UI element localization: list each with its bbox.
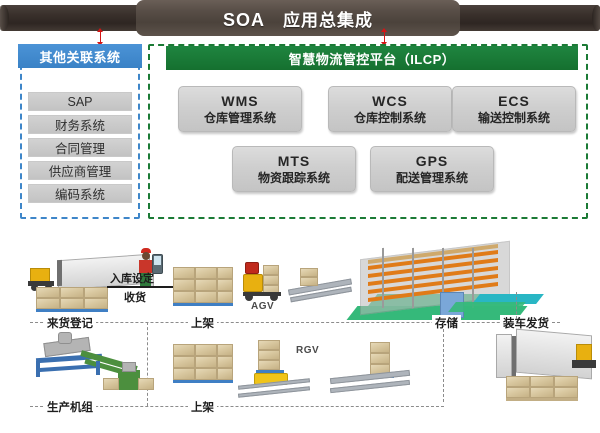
- system-item-coding[interactable]: 编码系统: [28, 184, 132, 203]
- module-wms-name: 仓库管理系统: [204, 110, 276, 126]
- inbound-setting-label: 入库设定: [110, 270, 154, 286]
- module-mts-name: 物资跟踪系统: [258, 170, 330, 186]
- system-item-sap[interactable]: SAP: [28, 92, 132, 111]
- module-gps-code: GPS: [416, 153, 449, 169]
- stage-label-putaway-top: 上架: [188, 315, 217, 331]
- agv-label: AGV: [251, 301, 274, 312]
- stage-label-storage: 存储: [432, 315, 461, 331]
- header-bar-right-segment: [448, 5, 600, 31]
- flow-connector-vertical-1: [147, 322, 148, 406]
- system-item-contract[interactable]: 合同管理: [28, 138, 132, 157]
- rgv-label: RGV: [296, 345, 319, 356]
- flow-connector-vertical-2: [443, 324, 444, 402]
- ilcp-header: 智慧物流管控平台（ILCP）: [166, 46, 578, 70]
- flow-divider-line-top: [30, 322, 560, 323]
- soa-title-cn: 应用总集成: [283, 11, 373, 30]
- system-item-finance[interactable]: 财务系统: [28, 115, 132, 134]
- header-bar-center-segment: SOA应用总集成: [136, 0, 460, 36]
- header-bar-left-segment: [0, 5, 150, 31]
- module-wms[interactable]: WMS 仓库管理系统: [178, 86, 302, 132]
- module-wcs-code: WCS: [372, 93, 408, 109]
- stage-label-production-unit: 生产机组: [44, 399, 96, 415]
- header-bar-right-cap-icon: [592, 5, 600, 31]
- module-wcs[interactable]: WCS 仓库控制系统: [328, 86, 452, 132]
- module-mts[interactable]: MTS 物资跟踪系统: [232, 146, 356, 192]
- module-wms-code: WMS: [221, 93, 258, 109]
- module-mts-code: MTS: [278, 153, 311, 169]
- system-item-supplier[interactable]: 供应商管理: [28, 161, 132, 180]
- module-ecs[interactable]: ECS 输送控制系统: [452, 86, 576, 132]
- logistics-flow-illustration: 入库设定 收货 AGV: [0, 232, 600, 433]
- page-title: SOA应用总集成: [223, 6, 373, 31]
- stage-label-putaway-bottom: 上架: [188, 399, 217, 415]
- inbound-arrow-line: [107, 286, 183, 288]
- module-gps-name: 配送管理系统: [396, 170, 468, 186]
- stage-label-inbound-registration: 来货登记: [44, 315, 96, 331]
- module-ecs-name: 输送控制系统: [478, 110, 550, 126]
- flow-connector-vertical-3: [516, 292, 517, 324]
- soa-header-bar: SOA应用总集成: [0, 0, 600, 40]
- module-wcs-name: 仓库控制系统: [354, 110, 426, 126]
- receiving-label: 收货: [124, 289, 146, 305]
- module-ecs-code: ECS: [498, 93, 530, 109]
- other-systems-header: 其他关联系统: [18, 44, 142, 68]
- module-gps[interactable]: GPS 配送管理系统: [370, 146, 494, 192]
- soa-title-en: SOA: [223, 10, 265, 30]
